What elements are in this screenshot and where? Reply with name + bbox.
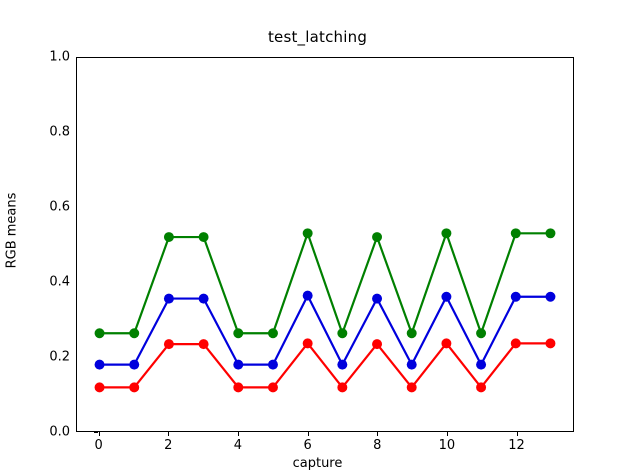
- x-tick-mark: [238, 432, 239, 436]
- x-tick-mark: [99, 432, 100, 436]
- data-point-marker: [164, 339, 174, 349]
- data-point-marker: [303, 228, 313, 238]
- data-point-marker: [545, 228, 555, 238]
- data-point-marker: [268, 360, 278, 370]
- data-point-marker: [95, 328, 105, 338]
- x-tick-mark: [377, 432, 378, 436]
- data-point-marker: [407, 382, 417, 392]
- data-point-marker: [407, 328, 417, 338]
- y-tick-label: 0.0: [30, 425, 70, 440]
- data-point-marker: [129, 382, 139, 392]
- data-point-marker: [233, 328, 243, 338]
- data-point-marker: [303, 338, 313, 348]
- data-point-marker: [337, 360, 347, 370]
- data-point-marker: [441, 338, 451, 348]
- data-point-marker: [337, 382, 347, 392]
- y-axis-ticks: 0.00.20.40.60.81.0: [22, 0, 70, 476]
- x-axis-label: capture: [0, 456, 635, 471]
- y-tick-label: 0.8: [30, 125, 70, 140]
- series-plot: [77, 58, 573, 431]
- data-point-marker: [545, 292, 555, 302]
- data-point-marker: [303, 291, 313, 301]
- x-tick-mark: [517, 432, 518, 436]
- data-point-marker: [511, 292, 521, 302]
- series-g: [95, 228, 556, 338]
- data-point-marker: [164, 294, 174, 304]
- x-tick-label: 2: [148, 438, 188, 453]
- y-tick-mark: [94, 432, 98, 433]
- data-point-marker: [511, 338, 521, 348]
- data-point-marker: [129, 360, 139, 370]
- chart-title: test_latching: [0, 28, 635, 46]
- data-point-marker: [372, 339, 382, 349]
- data-point-marker: [164, 232, 174, 242]
- x-tick-label: 0: [79, 438, 119, 453]
- y-tick-label: 0.4: [30, 275, 70, 290]
- data-point-marker: [233, 360, 243, 370]
- data-point-marker: [129, 328, 139, 338]
- data-point-marker: [268, 382, 278, 392]
- data-point-marker: [95, 382, 105, 392]
- data-point-marker: [476, 382, 486, 392]
- data-point-marker: [199, 294, 209, 304]
- series-b: [95, 291, 556, 370]
- y-tick-label: 1.0: [30, 50, 70, 65]
- data-point-marker: [233, 382, 243, 392]
- data-point-marker: [476, 360, 486, 370]
- x-tick-label: 4: [218, 438, 258, 453]
- data-point-marker: [441, 228, 451, 238]
- y-tick-label: 0.6: [30, 200, 70, 215]
- x-tick-mark: [168, 432, 169, 436]
- data-point-marker: [268, 328, 278, 338]
- data-point-marker: [407, 360, 417, 370]
- data-point-marker: [372, 294, 382, 304]
- series-r: [95, 338, 556, 392]
- data-point-marker: [199, 232, 209, 242]
- x-tick-mark: [447, 432, 448, 436]
- series-line: [100, 233, 551, 333]
- x-tick-label: 6: [288, 438, 328, 453]
- x-tick-label: 8: [357, 438, 397, 453]
- data-point-marker: [441, 292, 451, 302]
- data-point-marker: [95, 360, 105, 370]
- y-axis-label: RGB means: [5, 141, 20, 321]
- data-point-marker: [545, 338, 555, 348]
- data-point-marker: [511, 228, 521, 238]
- data-point-marker: [199, 339, 209, 349]
- data-point-marker: [476, 328, 486, 338]
- plot-area: [76, 57, 574, 432]
- x-tick-label: 12: [497, 438, 537, 453]
- x-tick-mark: [308, 432, 309, 436]
- data-point-marker: [337, 328, 347, 338]
- data-point-marker: [372, 232, 382, 242]
- figure-canvas: test_latching RGB means capture 0.00.20.…: [0, 0, 635, 476]
- y-tick-label: 0.2: [30, 350, 70, 365]
- x-tick-label: 10: [427, 438, 467, 453]
